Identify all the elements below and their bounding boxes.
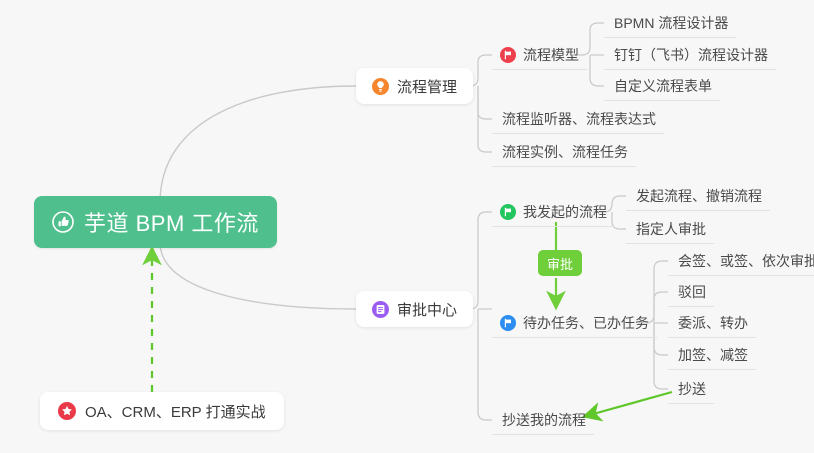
- approval-badge[interactable]: 审批: [538, 250, 582, 276]
- node-assignee-approval-label: 指定人审批: [636, 219, 706, 239]
- node-process-instance-task[interactable]: 流程实例、流程任务: [492, 137, 636, 167]
- node-process-model[interactable]: 流程模型: [492, 40, 587, 70]
- approval-badge-label: 审批: [547, 254, 573, 273]
- root-node[interactable]: 芋道 BPM 工作流: [34, 196, 277, 248]
- document-icon: [372, 301, 389, 318]
- node-my-started-process-label: 我发起的流程: [523, 202, 607, 222]
- node-process-instance-task-label: 流程实例、流程任务: [502, 142, 628, 162]
- link-pm-to-listener: [478, 86, 492, 119]
- node-todo-done-task-label: 待办任务、已办任务: [523, 313, 649, 333]
- node-my-started-process[interactable]: 我发起的流程: [492, 197, 615, 227]
- node-countersign-orsign-sequential[interactable]: 会签、或签、依次审批: [668, 246, 814, 276]
- node-process-listener-expression[interactable]: 流程监听器、流程表达式: [492, 104, 664, 134]
- node-add-remove-sign[interactable]: 加签、减签: [668, 340, 756, 370]
- node-delegate-transfer[interactable]: 委派、转办: [668, 308, 756, 338]
- node-assignee-approval[interactable]: 指定人审批: [626, 214, 714, 244]
- lightbulb-icon: [372, 78, 389, 95]
- node-process-model-label: 流程模型: [523, 45, 579, 65]
- node-carbon-copy-label: 抄送: [678, 379, 706, 399]
- branch-process-management[interactable]: 流程管理: [356, 68, 473, 104]
- node-dingtalk-feishu-designer-label: 钉钉（飞书）流程设计器: [614, 45, 768, 65]
- flag-icon: [500, 47, 516, 63]
- node-carbon-copy[interactable]: 抄送: [668, 374, 714, 404]
- node-reject[interactable]: 驳回: [668, 277, 714, 307]
- flag-icon: [500, 315, 516, 331]
- star-icon: [58, 402, 76, 420]
- link-pm-to-instance: [478, 86, 492, 152]
- callout-oa-crm-erp[interactable]: OA、CRM、ERP 打通实战: [40, 392, 284, 430]
- link-root-to-process-management: [160, 86, 356, 203]
- node-bpmn-designer-label: BPMN 流程设计器: [614, 13, 728, 33]
- node-custom-process-form[interactable]: 自定义流程表单: [604, 71, 720, 101]
- node-reject-label: 驳回: [678, 282, 706, 302]
- node-start-cancel-process[interactable]: 发起流程、撤销流程: [626, 181, 770, 211]
- branch-process-management-label: 流程管理: [397, 76, 457, 97]
- link-root-to-approval-center: [160, 242, 356, 309]
- link-ac-to-cc-to-me: [478, 309, 492, 420]
- flag-icon: [500, 204, 516, 220]
- node-cc-to-me-process-label: 抄送我的流程: [502, 410, 586, 430]
- branch-approval-center-label: 审批中心: [397, 299, 457, 320]
- node-start-cancel-process-label: 发起流程、撤销流程: [636, 186, 762, 206]
- node-bpmn-designer[interactable]: BPMN 流程设计器: [604, 8, 736, 38]
- arrow-cc-to-cc-to-me: [586, 392, 672, 416]
- callout-label: OA、CRM、ERP 打通实战: [85, 401, 266, 422]
- node-custom-process-form-label: 自定义流程表单: [614, 76, 712, 96]
- link-pmodel-to-customform: [590, 55, 604, 86]
- node-todo-done-task[interactable]: 待办任务、已办任务: [492, 308, 657, 338]
- mindmap-canvas: 芋道 BPM 工作流 流程管理 流程模型 BPMN 流程设计器 钉钉（飞书）流程: [0, 0, 814, 453]
- thumbs-up-icon: [52, 211, 74, 233]
- node-delegate-transfer-label: 委派、转办: [678, 313, 748, 333]
- node-dingtalk-feishu-designer[interactable]: 钉钉（飞书）流程设计器: [604, 40, 776, 70]
- node-cc-to-me-process[interactable]: 抄送我的流程: [492, 405, 594, 435]
- node-add-remove-sign-label: 加签、减签: [678, 345, 748, 365]
- node-process-listener-expression-label: 流程监听器、流程表达式: [502, 109, 656, 129]
- root-label: 芋道 BPM 工作流: [84, 206, 259, 238]
- node-countersign-orsign-sequential-label: 会签、或签、依次审批: [678, 251, 814, 271]
- branch-approval-center[interactable]: 审批中心: [356, 291, 473, 327]
